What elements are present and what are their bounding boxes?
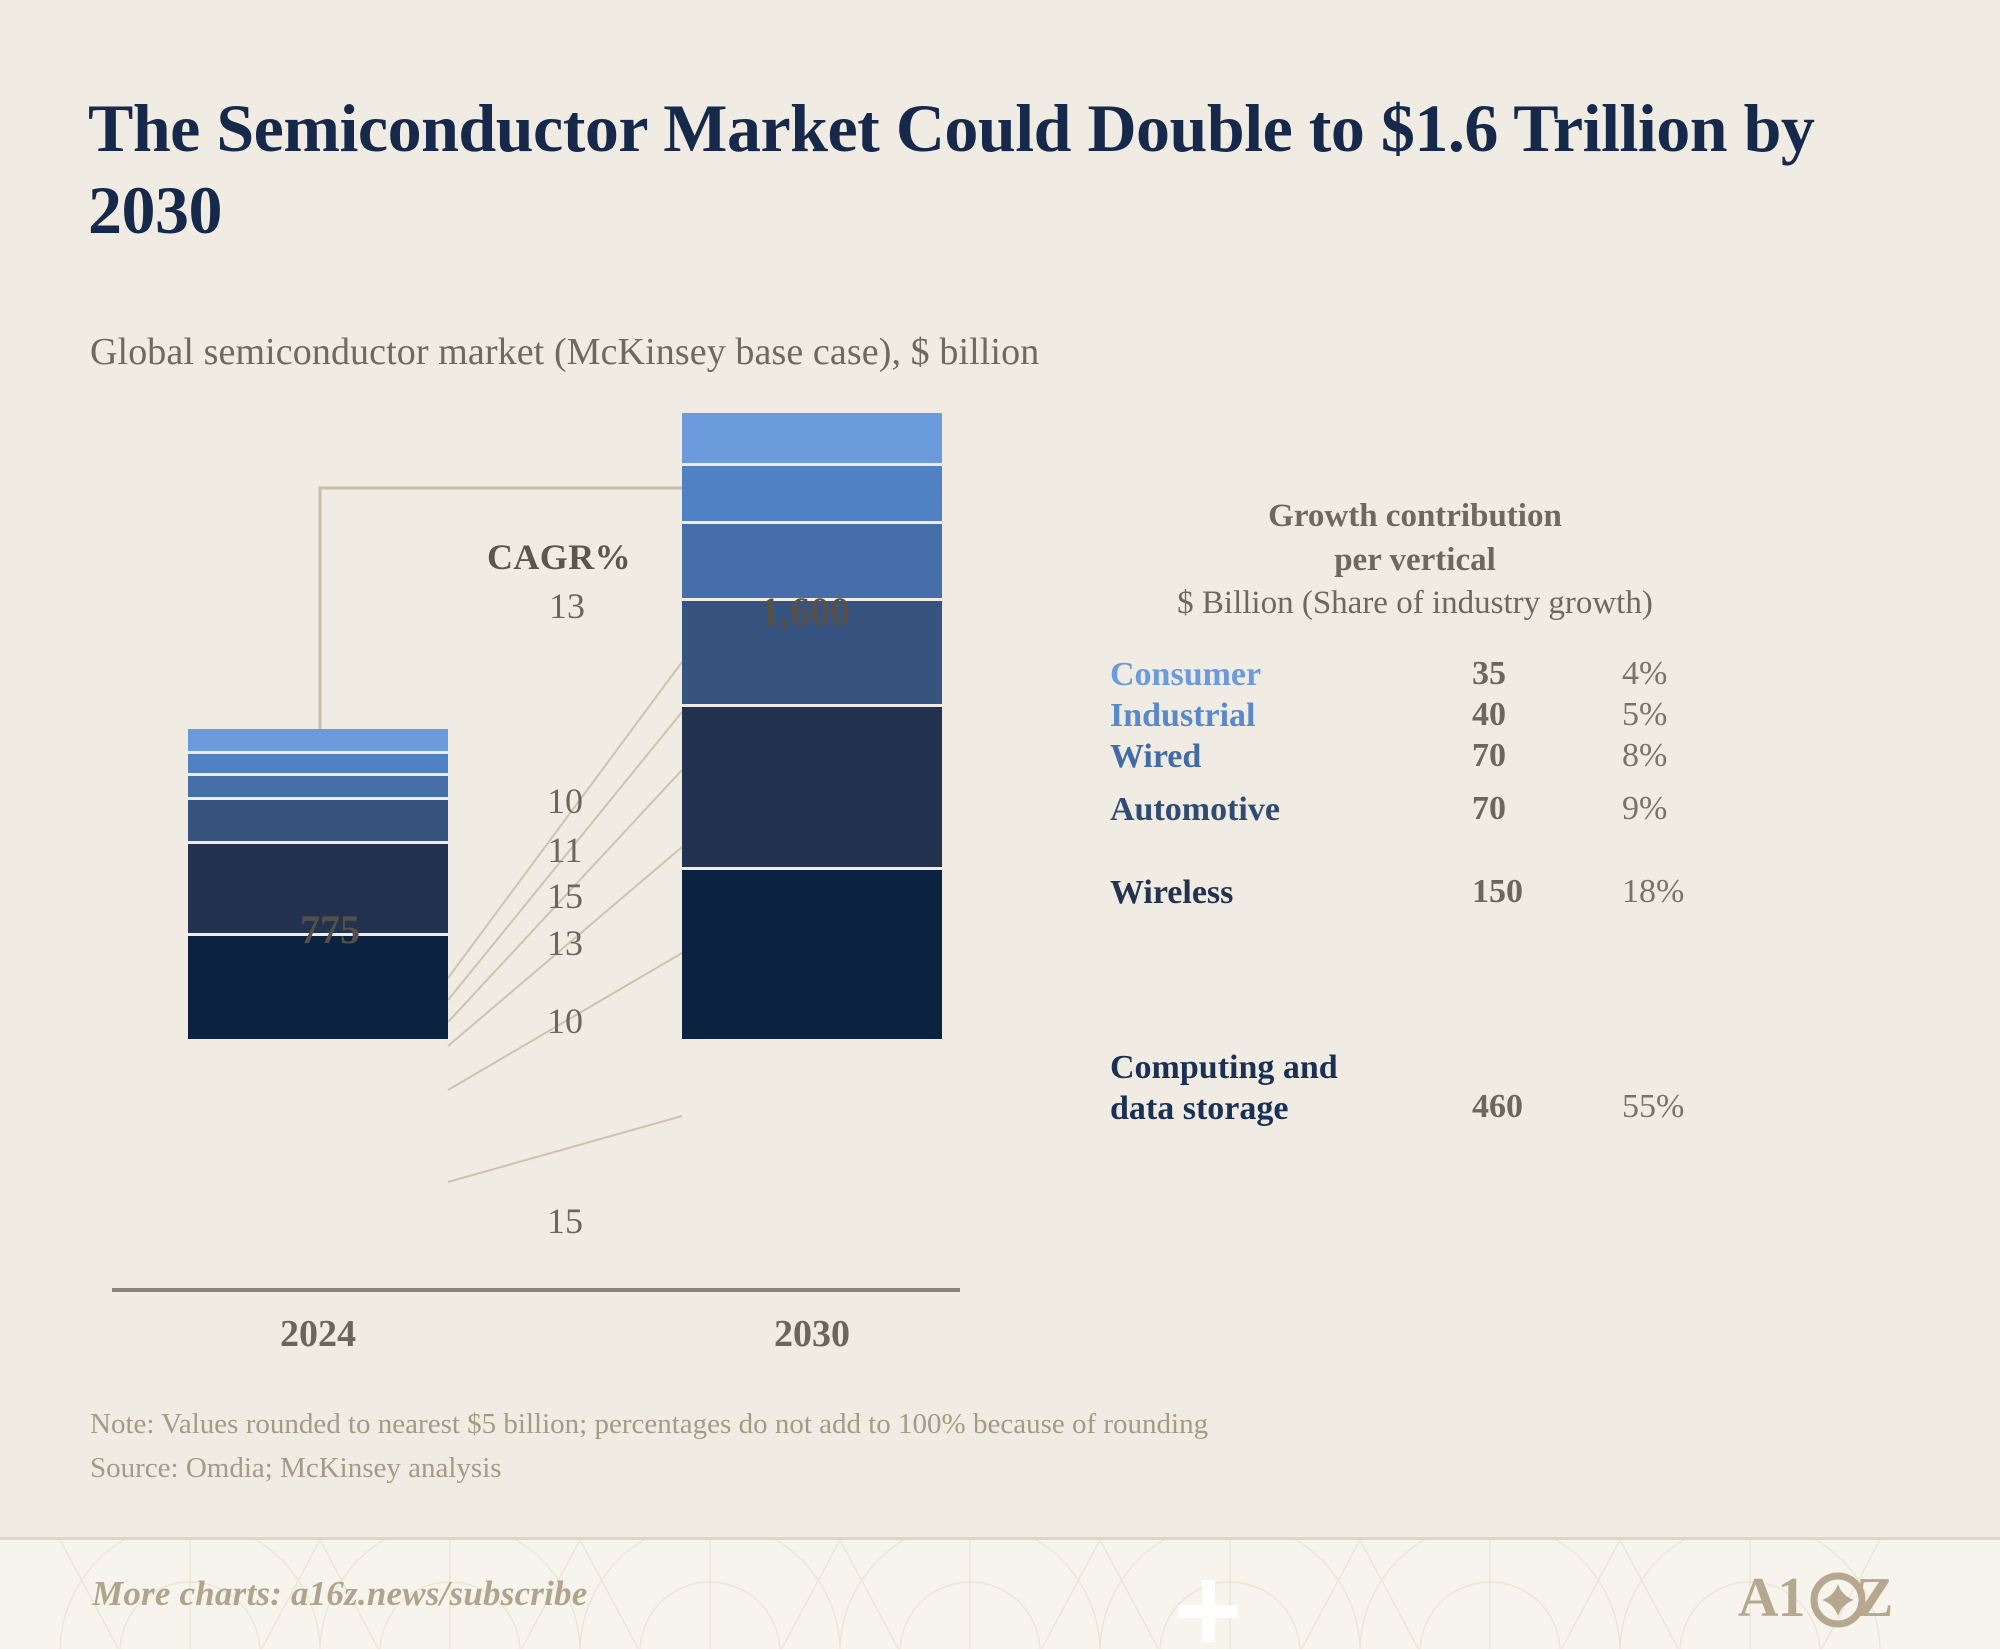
cagr-title: CAGR% (487, 536, 631, 578)
growth-panel-header: Growth contribution per vertical $ Billi… (1090, 495, 1740, 626)
chart-area: 775 1,600 2024 2030 CAGR% 13 10 11 15 13… (0, 0, 1000, 1400)
segment-consumer-2030 (682, 413, 942, 463)
bar-2030 (682, 413, 942, 1039)
vertical-share-computing: 55% (1622, 1088, 1684, 1126)
vertical-growth-computing: 460 (1472, 1088, 1523, 1126)
cagr-wired: 15 (530, 875, 600, 917)
bar-total-2024: 775 (300, 906, 360, 953)
cagr-computing: 15 (530, 1200, 600, 1242)
x-axis-line (112, 1288, 960, 1292)
bar-total-2030: 1,600 (760, 588, 850, 635)
bar-2024 (188, 729, 448, 1039)
vertical-growth-consumer: 35 (1472, 655, 1506, 693)
subscribe-cta[interactable]: More charts: a16z.news/subscribe (92, 1574, 587, 1614)
vertical-growth-automotive: 70 (1472, 790, 1506, 828)
segment-computing-2030 (682, 867, 942, 1039)
vertical-share-wireless: 18% (1622, 873, 1684, 911)
cagr-industrial: 11 (530, 829, 600, 871)
cagr-automotive: 13 (530, 922, 600, 964)
cagr-wireless: 10 (530, 1000, 600, 1042)
vertical-name-consumer: Consumer (1110, 655, 1261, 696)
vertical-share-automotive: 9% (1622, 790, 1667, 828)
vertical-name-wired: Wired (1110, 737, 1201, 778)
vertical-name-automotive: Automotive (1110, 790, 1280, 831)
vertical-name-wireless: Wireless (1110, 873, 1233, 914)
a16z-logo[interactable]: A1 Z (1738, 1566, 1938, 1628)
svg-text:A1: A1 (1738, 1567, 1804, 1628)
growth-panel-head-line2: per vertical (1090, 539, 1740, 583)
source-text: Source: Omdia; McKinsey analysis (90, 1446, 1208, 1490)
footnotes: Note: Values rounded to nearest $5 billi… (90, 1402, 1208, 1490)
segment-wired-2024 (188, 773, 448, 797)
growth-panel-head-line1: Growth contribution (1090, 495, 1740, 539)
mouse-cursor-icon (1178, 1580, 1238, 1642)
vertical-growth-industrial: 40 (1472, 696, 1506, 734)
vertical-name-computing: Computing and data storage (1110, 1048, 1338, 1130)
segment-wireless-2030 (682, 704, 942, 867)
note-text: Note: Values rounded to nearest $5 billi… (90, 1402, 1208, 1446)
segment-automotive-2024 (188, 797, 448, 841)
footer-bar: More charts: a16z.news/subscribe A1 Z (0, 1537, 2000, 1649)
segment-industrial-2024 (188, 751, 448, 773)
cagr-consumer: 10 (530, 780, 600, 822)
x-axis-label-2030: 2030 (682, 1312, 942, 1356)
segment-industrial-2030 (682, 463, 942, 521)
segment-wired-2030 (682, 521, 942, 598)
cagr-total: 13 (532, 585, 602, 627)
x-axis-label-2024: 2024 (188, 1312, 448, 1356)
vertical-share-industrial: 5% (1622, 696, 1667, 734)
vertical-growth-wireless: 150 (1472, 873, 1523, 911)
growth-panel-head-line3: $ Billion (Share of industry growth) (1090, 582, 1740, 626)
vertical-name-industrial: Industrial (1110, 696, 1256, 737)
segment-consumer-2024 (188, 729, 448, 751)
vertical-growth-wired: 70 (1472, 737, 1506, 775)
vertical-share-consumer: 4% (1622, 655, 1667, 693)
vertical-share-wired: 8% (1622, 737, 1667, 775)
